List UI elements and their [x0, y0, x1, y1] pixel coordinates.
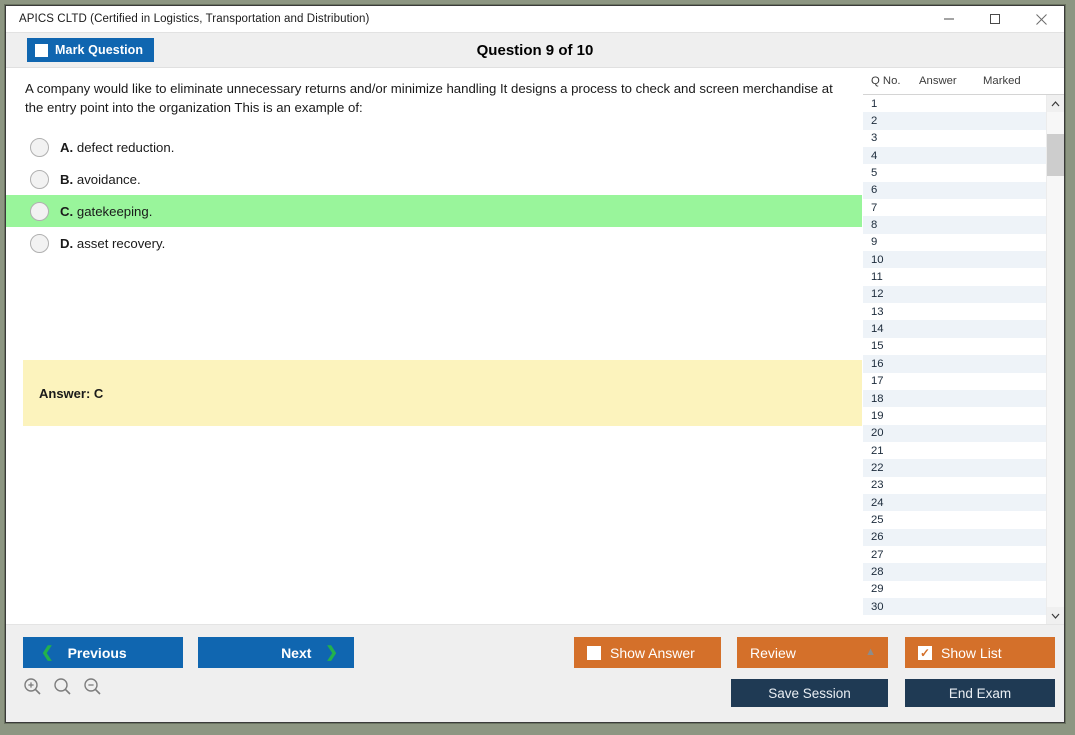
- row-question-number: 8: [863, 219, 919, 231]
- answer-option-a-letter: A.: [60, 140, 73, 155]
- row-question-number: 24: [863, 497, 919, 509]
- row-question-number: 3: [863, 132, 919, 144]
- desktop-background: APICS CLTD (Certified in Logistics, Tran…: [0, 0, 1075, 735]
- table-row[interactable]: 16: [863, 355, 1046, 372]
- table-row[interactable]: 28: [863, 563, 1046, 580]
- row-question-number: 25: [863, 514, 919, 526]
- exam-header-bar: Mark Question Question 9 of 10: [6, 33, 1064, 68]
- zoom-out-icon: [83, 677, 102, 696]
- table-row[interactable]: 15: [863, 338, 1046, 355]
- end-exam-label: End Exam: [949, 686, 1011, 701]
- mark-question-button[interactable]: Mark Question: [27, 38, 154, 62]
- row-question-number: 30: [863, 601, 919, 613]
- table-row[interactable]: 19: [863, 407, 1046, 424]
- previous-button-label: Previous: [68, 645, 127, 661]
- table-row[interactable]: 17: [863, 373, 1046, 390]
- answer-option-d-text: D. asset recovery.: [60, 236, 165, 251]
- row-question-number: 18: [863, 393, 919, 405]
- table-row[interactable]: 21: [863, 442, 1046, 459]
- chevron-down-icon: [1051, 613, 1060, 619]
- chevron-right-icon: ❯: [325, 645, 338, 660]
- radio-icon-b[interactable]: [30, 170, 49, 189]
- table-row[interactable]: 30: [863, 598, 1046, 615]
- zoom-reset-icon: [53, 677, 72, 696]
- close-button[interactable]: [1018, 6, 1064, 33]
- question-list-panel: Q No. Answer Marked 12345678910111213141…: [862, 68, 1064, 624]
- table-row[interactable]: 10: [863, 251, 1046, 268]
- chevron-up-icon: [1051, 101, 1060, 107]
- table-row[interactable]: 11: [863, 268, 1046, 285]
- row-question-number: 15: [863, 340, 919, 352]
- zoom-reset-button[interactable]: [53, 677, 72, 701]
- table-row[interactable]: 4: [863, 147, 1046, 164]
- maximize-button[interactable]: [972, 6, 1018, 33]
- radio-icon-a[interactable]: [30, 138, 49, 157]
- row-question-number: 17: [863, 375, 919, 387]
- review-dropdown-label: Review: [750, 645, 796, 661]
- show-answer-button[interactable]: Show Answer: [574, 637, 721, 668]
- close-icon: [1035, 13, 1048, 26]
- row-question-number: 28: [863, 566, 919, 578]
- table-row[interactable]: 12: [863, 286, 1046, 303]
- row-question-number: 29: [863, 583, 919, 595]
- table-row[interactable]: 8: [863, 216, 1046, 233]
- answer-reveal-text: Answer: C: [23, 386, 103, 401]
- scrollbar-track[interactable]: [1047, 112, 1064, 607]
- previous-button[interactable]: ❮ Previous: [23, 637, 183, 668]
- row-question-number: 12: [863, 288, 919, 300]
- row-question-number: 21: [863, 445, 919, 457]
- table-row[interactable]: 20: [863, 425, 1046, 442]
- row-question-number: 19: [863, 410, 919, 422]
- table-row[interactable]: 27: [863, 546, 1046, 563]
- table-row[interactable]: 25: [863, 511, 1046, 528]
- caret-up-icon: ▲: [865, 647, 876, 658]
- row-question-number: 14: [863, 323, 919, 335]
- next-button-label: Next: [281, 645, 311, 661]
- zoom-in-icon: [23, 677, 42, 696]
- answer-option-d-label: asset recovery.: [77, 236, 165, 251]
- row-question-number: 22: [863, 462, 919, 474]
- row-question-number: 7: [863, 202, 919, 214]
- table-row[interactable]: 2: [863, 112, 1046, 129]
- exam-footer: ❮ Previous Next ❯ Show Answer Review ▲ ✓…: [6, 624, 1064, 722]
- row-question-number: 26: [863, 531, 919, 543]
- question-counter: Question 9 of 10: [6, 42, 1064, 59]
- show-answer-checkbox-icon[interactable]: [587, 646, 601, 660]
- row-question-number: 27: [863, 549, 919, 561]
- row-question-number: 1: [863, 98, 919, 110]
- row-question-number: 9: [863, 236, 919, 248]
- answer-option-a-label: defect reduction.: [77, 140, 175, 155]
- exam-window: APICS CLTD (Certified in Logistics, Tran…: [5, 5, 1065, 723]
- table-row[interactable]: 7: [863, 199, 1046, 216]
- scrollbar-thumb[interactable]: [1047, 134, 1064, 176]
- table-row[interactable]: 1: [863, 95, 1046, 112]
- zoom-out-button[interactable]: [83, 677, 102, 701]
- radio-icon-c[interactable]: [30, 202, 49, 221]
- minimize-icon: [943, 13, 955, 25]
- show-answer-label: Show Answer: [610, 645, 695, 661]
- question-list-rows[interactable]: 1234567891011121314151617181920212223242…: [863, 95, 1046, 624]
- scroll-up-button[interactable]: [1047, 95, 1064, 112]
- table-row[interactable]: 3: [863, 130, 1046, 147]
- question-pane: A company would like to eliminate unnece…: [6, 68, 862, 624]
- radio-icon-d[interactable]: [30, 234, 49, 253]
- row-question-number: 20: [863, 427, 919, 439]
- answer-option-b-letter: B.: [60, 172, 73, 187]
- zoom-controls: [23, 677, 102, 701]
- question-list-body: 1234567891011121314151617181920212223242…: [863, 95, 1064, 624]
- mark-question-checkbox-icon[interactable]: [35, 44, 48, 57]
- show-list-label: Show List: [941, 645, 1002, 661]
- question-list-scrollbar[interactable]: [1046, 95, 1064, 624]
- answer-option-a-text: A. defect reduction.: [60, 140, 174, 155]
- answer-option-b-text: B. avoidance.: [60, 172, 141, 187]
- table-row[interactable]: 14: [863, 320, 1046, 337]
- row-question-number: 13: [863, 306, 919, 318]
- exam-body: A company would like to eliminate unnece…: [6, 68, 1064, 624]
- show-list-button[interactable]: ✓ Show List: [905, 637, 1055, 668]
- column-header-qno: Q No.: [863, 75, 919, 87]
- row-question-number: 23: [863, 479, 919, 491]
- column-header-marked: Marked: [983, 75, 1043, 87]
- row-question-number: 11: [863, 271, 919, 283]
- mark-question-label: Mark Question: [55, 43, 143, 57]
- answer-option-c-text: C. gatekeeping.: [60, 204, 152, 219]
- table-row[interactable]: 29: [863, 581, 1046, 598]
- maximize-icon: [989, 13, 1001, 25]
- scroll-down-button[interactable]: [1047, 607, 1064, 624]
- zoom-in-button[interactable]: [23, 677, 42, 701]
- row-question-number: 16: [863, 358, 919, 370]
- column-header-answer: Answer: [919, 75, 983, 87]
- answer-option-c-letter: C.: [60, 204, 73, 219]
- answer-options-list: A. defect reduction. B. avoidance. C. ga…: [6, 131, 862, 259]
- answer-option-c-label: gatekeeping.: [77, 204, 153, 219]
- row-question-number: 4: [863, 150, 919, 162]
- next-button[interactable]: Next ❯: [198, 637, 354, 668]
- end-exam-button[interactable]: End Exam: [905, 679, 1055, 707]
- row-question-number: 5: [863, 167, 919, 179]
- table-row[interactable]: 18: [863, 390, 1046, 407]
- table-row[interactable]: 24: [863, 494, 1046, 511]
- answer-option-a[interactable]: A. defect reduction.: [6, 131, 862, 163]
- check-icon: ✓: [920, 647, 930, 659]
- table-row[interactable]: 13: [863, 303, 1046, 320]
- question-text: A company would like to eliminate unnece…: [25, 79, 842, 117]
- question-list-header: Q No. Answer Marked: [863, 68, 1064, 95]
- answer-option-b[interactable]: B. avoidance.: [6, 163, 862, 195]
- table-row[interactable]: 26: [863, 529, 1046, 546]
- table-row[interactable]: 9: [863, 234, 1046, 251]
- window-title: APICS CLTD (Certified in Logistics, Tran…: [6, 13, 369, 25]
- table-row[interactable]: 5: [863, 164, 1046, 181]
- answer-option-b-label: avoidance.: [77, 172, 141, 187]
- window-controls: [926, 6, 1064, 33]
- table-row[interactable]: 23: [863, 477, 1046, 494]
- show-list-checkbox-icon[interactable]: ✓: [918, 646, 932, 660]
- save-session-label: Save Session: [768, 686, 851, 701]
- review-dropdown[interactable]: Review ▲: [737, 637, 888, 668]
- row-question-number: 10: [863, 254, 919, 266]
- row-question-number: 6: [863, 184, 919, 196]
- answer-reveal-box: Answer: C: [23, 360, 862, 426]
- window-titlebar: APICS CLTD (Certified in Logistics, Tran…: [6, 6, 1064, 33]
- row-question-number: 2: [863, 115, 919, 127]
- answer-option-d[interactable]: D. asset recovery.: [6, 227, 862, 259]
- table-row[interactable]: 6: [863, 182, 1046, 199]
- answer-option-d-letter: D.: [60, 236, 73, 251]
- chevron-left-icon: ❮: [41, 645, 54, 660]
- save-session-button[interactable]: Save Session: [731, 679, 888, 707]
- table-row[interactable]: 22: [863, 459, 1046, 476]
- answer-option-c[interactable]: C. gatekeeping.: [6, 195, 862, 227]
- minimize-button[interactable]: [926, 6, 972, 33]
